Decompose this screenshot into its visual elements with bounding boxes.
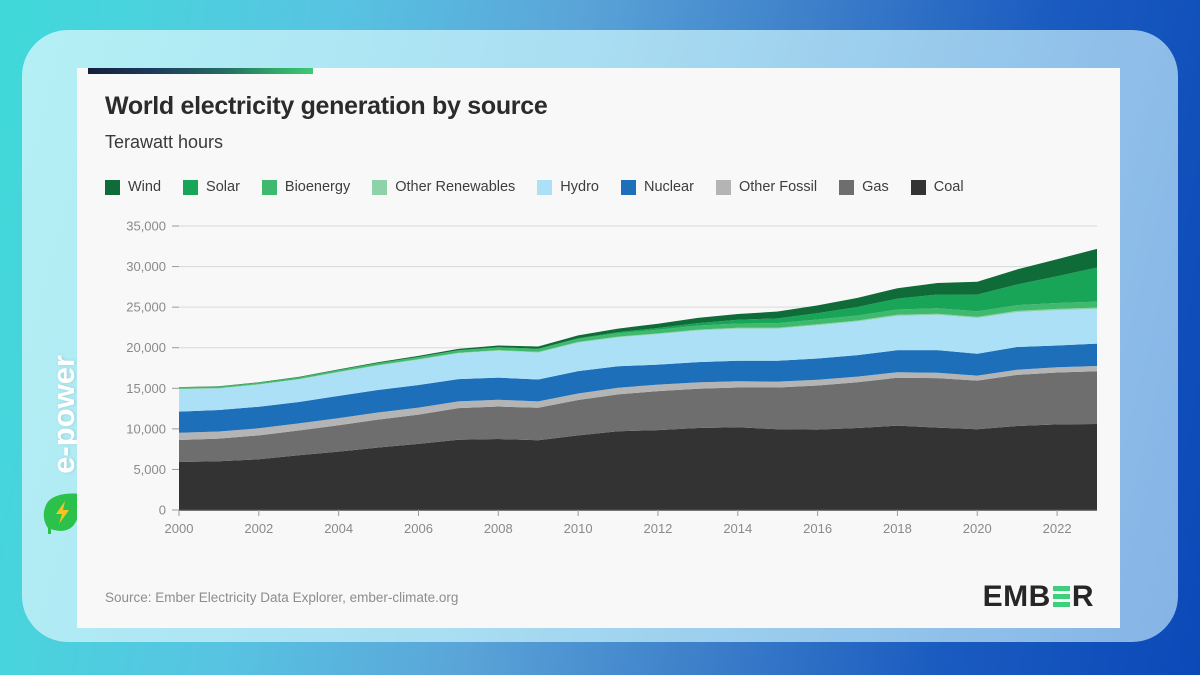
legend-label: Other Renewables — [395, 179, 515, 195]
y-tick-label: 35,000 — [126, 219, 166, 234]
page-title: World electricity generation by source — [105, 92, 547, 121]
legend-item-solar[interactable]: Solar — [183, 179, 240, 195]
legend-item-coal[interactable]: Coal — [911, 179, 964, 195]
x-tick-label: 2018 — [883, 521, 912, 536]
legend-item-other-fossil[interactable]: Other Fossil — [716, 179, 817, 195]
legend-label: Nuclear — [644, 179, 694, 195]
legend-label: Other Fossil — [739, 179, 817, 195]
legend-item-wind[interactable]: Wind — [105, 179, 161, 195]
stacked-area-chart: 05,00010,00015,00020,00025,00030,00035,0… — [105, 218, 1105, 548]
chart-panel: World electricity generation by source T… — [77, 68, 1120, 628]
ember-logo-text-before: EMB — [983, 580, 1051, 614]
legend-swatch-icon — [105, 180, 120, 195]
legend-swatch-icon — [911, 180, 926, 195]
legend-swatch-icon — [716, 180, 731, 195]
legend-swatch-icon — [537, 180, 552, 195]
ember-logo: EMB R — [983, 580, 1094, 614]
y-tick-label: 25,000 — [126, 300, 166, 315]
y-tick-labels: 05,00010,00015,00020,00025,00030,00035,0… — [126, 219, 166, 518]
x-tick-label: 2002 — [244, 521, 273, 536]
x-tick-label: 2006 — [404, 521, 433, 536]
legend-label: Wind — [128, 179, 161, 195]
x-tick-label: 2012 — [643, 521, 672, 536]
area-series-layer — [179, 249, 1097, 510]
source-note: Source: Ember Electricity Data Explorer,… — [105, 590, 458, 605]
plot-area: 05,00010,00015,00020,00025,00030,00035,0… — [105, 218, 1105, 548]
chart-legend: WindSolarBioenergyOther RenewablesHydroN… — [105, 179, 964, 195]
ember-e-bars-icon — [1053, 586, 1070, 608]
y-tick-label: 15,000 — [126, 381, 166, 396]
legend-item-gas[interactable]: Gas — [839, 179, 889, 195]
x-tick-labels: 2000200220042006200820102012201420162018… — [165, 521, 1072, 536]
legend-item-nuclear[interactable]: Nuclear — [621, 179, 694, 195]
x-tick-label: 2008 — [484, 521, 513, 536]
legend-swatch-icon — [621, 180, 636, 195]
legend-label: Solar — [206, 179, 240, 195]
x-tick-label: 2004 — [324, 521, 353, 536]
screenshot-root: e-power World electricity generation by … — [0, 0, 1200, 675]
legend-label: Coal — [934, 179, 964, 195]
legend-swatch-icon — [839, 180, 854, 195]
legend-label: Gas — [862, 179, 889, 195]
legend-item-hydro[interactable]: Hydro — [537, 179, 599, 195]
y-tick-label: 5,000 — [133, 462, 166, 477]
x-tick-label: 2020 — [963, 521, 992, 536]
brand-name: e-power — [48, 355, 79, 474]
legend-swatch-icon — [183, 180, 198, 195]
accent-bar — [88, 68, 313, 74]
x-tick-label: 2010 — [564, 521, 593, 536]
chart-subtitle: Terawatt hours — [105, 132, 223, 153]
y-tick-label: 20,000 — [126, 340, 166, 355]
ember-logo-text-after: R — [1072, 580, 1094, 614]
y-tick-label: 0 — [159, 503, 166, 518]
y-tick-label: 30,000 — [126, 259, 166, 274]
x-tick-label: 2022 — [1043, 521, 1072, 536]
legend-label: Bioenergy — [285, 179, 350, 195]
x-tick-label: 2014 — [723, 521, 752, 536]
legend-item-other-renewables[interactable]: Other Renewables — [372, 179, 515, 195]
x-tick-label: 2016 — [803, 521, 832, 536]
legend-swatch-icon — [372, 180, 387, 195]
legend-label: Hydro — [560, 179, 599, 195]
legend-swatch-icon — [262, 180, 277, 195]
y-tick-label: 10,000 — [126, 421, 166, 436]
legend-item-bioenergy[interactable]: Bioenergy — [262, 179, 350, 195]
x-tick-label: 2000 — [165, 521, 194, 536]
